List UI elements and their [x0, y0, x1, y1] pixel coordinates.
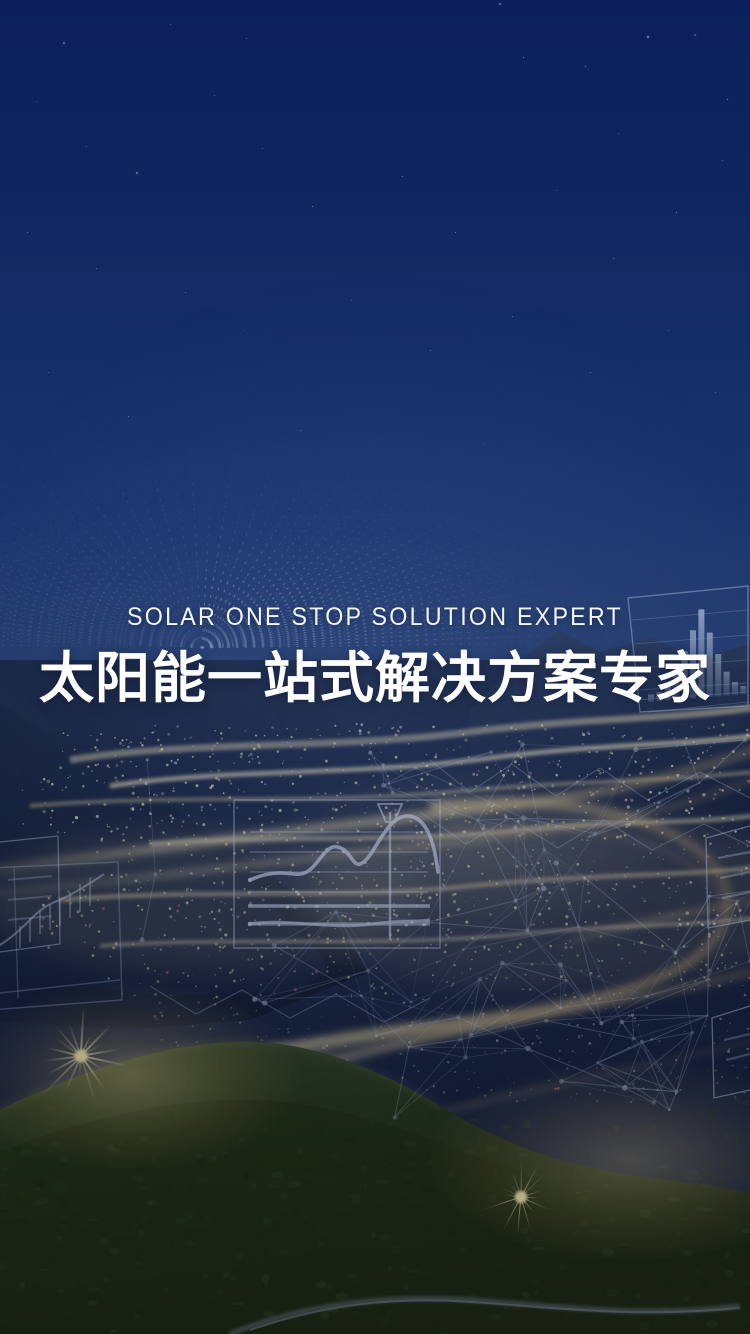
- banner-headline: 太阳能一站式解决方案专家: [0, 646, 750, 711]
- hero-banner: SOLAR ONE STOP SOLUTION EXPERT 太阳能一站式解决方…: [0, 0, 750, 1334]
- headline-block: SOLAR ONE STOP SOLUTION EXPERT 太阳能一站式解决方…: [0, 604, 750, 710]
- banner-eyebrow: SOLAR ONE STOP SOLUTION EXPERT: [26, 604, 724, 632]
